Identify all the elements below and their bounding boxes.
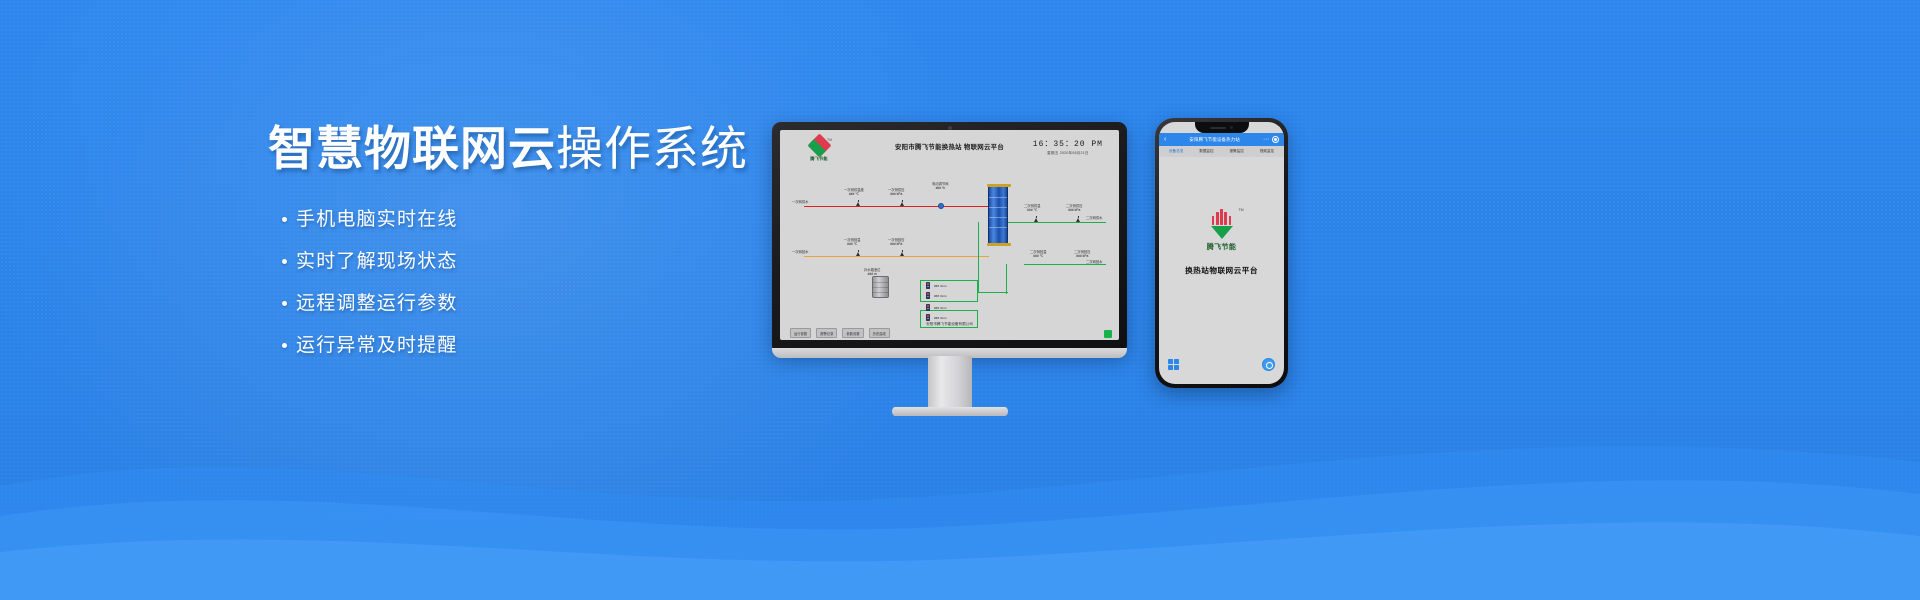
front-camera-icon	[1230, 126, 1233, 129]
page-title-strong: 智慧物联网云	[268, 122, 556, 175]
scada-header: TM 腾飞节能 安阳市腾飞节能换热站 物联网云平台 16：35：20 PM 星期…	[780, 130, 1119, 164]
plate-heat-exchanger	[988, 186, 1008, 244]
tab-alarm-log[interactable]: 报警记录	[816, 328, 837, 338]
label-secondary-return-press: 二次侧回压### kPa	[1074, 250, 1090, 259]
phone-tab-bar[interactable]: 设备总览 数据监控 报警监控 视频监控	[1159, 146, 1284, 157]
valve-icon	[1076, 218, 1081, 222]
date-value: 星期五 2020年08月21日	[1033, 151, 1103, 156]
webcam-icon	[948, 126, 952, 130]
triangle-icon	[1211, 226, 1233, 239]
label-primary-return-temp: 一次侧回温### ℃	[844, 238, 860, 247]
pump-value: ### r/min	[934, 294, 947, 298]
apps-grid-icon[interactable]	[1168, 359, 1179, 370]
tab-run-parameters[interactable]: 运行参数	[790, 328, 811, 338]
speaker-icon	[1210, 127, 1226, 129]
valve-icon	[856, 252, 861, 256]
pipe-branch-riser	[1006, 264, 1007, 294]
brand-label: 腾飞节能	[1202, 242, 1242, 252]
feature-bullet-list: 手机电脑实时在线 实时了解现场状态 远程调整运行参数 运行异常及时提醒	[268, 210, 828, 355]
pipe-branch	[978, 292, 1008, 293]
control-valve-icon	[938, 203, 944, 209]
bullet-dot-icon	[282, 301, 287, 306]
clock-value: 16：35：20 PM	[1033, 138, 1103, 149]
label-secondary-supply-press: 二次侧供压### kPa	[1066, 204, 1082, 213]
desktop-monitor-mockup: TM 腾飞节能 安阳市腾飞节能换热站 物联网云平台 16：35：20 PM 星期…	[772, 122, 1127, 419]
tab-data-monitor[interactable]: 数据监控	[1199, 149, 1213, 154]
brand-logo-icon: TM	[1202, 209, 1242, 239]
pipe-primary-return	[804, 256, 989, 257]
tab-video-monitor[interactable]: 视频监控	[1260, 149, 1274, 154]
scada-diagram: 一次网供水 一次侧供温度### ℃ 一次侧供压### kPa 电动调节阀### …	[780, 164, 1119, 334]
pump-value: ### r/min	[934, 306, 947, 310]
bullet-label: 远程调整运行参数	[296, 294, 458, 313]
phone-screen: ‹ 安阳腾飞节能设备热力站 ⋯ 设备总览 数据监控 报警监控 视频监控 TM 腾…	[1159, 122, 1284, 384]
pump-unit-icon	[926, 292, 930, 299]
tab-alarm-monitor[interactable]: 报警监控	[1229, 149, 1243, 154]
scada-tab-bar[interactable]: 运行参数 报警记录 参数设置 历史曲线	[790, 328, 890, 338]
phone-brand-block: TM 腾飞节能	[1202, 209, 1242, 252]
label-secondary-supply-temp: 二次侧供温### ℃	[1024, 204, 1040, 213]
scada-footer: 安阳市腾飞节能设备有限公司 运行参数 报警记录 参数设置 历史曲线	[780, 320, 1119, 340]
close-circle-icon[interactable]	[1272, 136, 1279, 143]
tab-device-overview[interactable]: 设备总览	[1169, 149, 1183, 154]
phone-nav-bar: ‹ 安阳腾飞节能设备热力站 ⋯	[1159, 133, 1284, 146]
list-item: 手机电脑实时在线	[282, 210, 828, 229]
label-primary-supply-temp: 一次侧供温度### ℃	[844, 188, 864, 197]
phone-nav-title: 安阳腾飞节能设备热力站	[1169, 137, 1260, 143]
phone-content: TM 腾飞节能 换热站物联网云平台	[1159, 157, 1284, 384]
phone-notch	[1195, 122, 1249, 133]
list-item: 远程调整运行参数	[282, 294, 828, 313]
bullet-dot-icon	[282, 343, 287, 348]
more-icon[interactable]: ⋯	[1263, 137, 1269, 143]
monitor-bezel: TM 腾飞节能 安阳市腾飞节能换热站 物联网云平台 16：35：20 PM 星期…	[772, 122, 1127, 354]
bullet-label: 运行异常及时提醒	[296, 336, 458, 355]
pipe-primary-supply	[804, 206, 989, 207]
scada-clock-block: 16：35：20 PM 星期五 2020年08月21日	[1033, 138, 1103, 156]
bullet-dot-icon	[282, 217, 287, 222]
valve-icon	[900, 202, 905, 206]
company-label: 安阳市腾飞节能设备有限公司	[780, 322, 1119, 327]
monitor-stand-neck	[928, 356, 972, 410]
hero-copy: 智慧物联网云操作系统 手机电脑实时在线 实时了解现场状态 远程调整运行参数 运行…	[268, 122, 828, 378]
label-secondary-return-temp: 二次侧回温### ℃	[1030, 250, 1046, 259]
status-indicator-button[interactable]	[1104, 330, 1112, 338]
page-title: 智慧物联网云操作系统	[268, 122, 828, 176]
bullet-dot-icon	[282, 259, 287, 264]
label-primary-supply-press: 一次侧供压### kPa	[888, 188, 904, 197]
smartphone-mockup: ‹ 安阳腾飞节能设备热力站 ⋯ 设备总览 数据监控 报警监控 视频监控 TM 腾…	[1155, 118, 1288, 388]
pipe-secondary-supply	[1008, 222, 1106, 223]
bullet-label: 实时了解现场状态	[296, 252, 458, 271]
valve-icon	[1034, 218, 1039, 222]
label-secondary-supply: 二次网供水	[1086, 216, 1102, 220]
label-primary-supply: 一次网供水	[792, 200, 808, 204]
bars-icon	[1208, 209, 1236, 225]
makeup-water-tank	[872, 276, 889, 298]
pump-value: ### r/min	[934, 284, 947, 288]
monitor-stand-base	[892, 407, 1008, 416]
valve-icon	[900, 252, 905, 256]
bullet-label: 手机电脑实时在线	[296, 210, 458, 229]
page-title-light: 操作系统	[556, 122, 748, 175]
trademark-icon: TM	[1238, 208, 1243, 212]
background-wave-decoration	[0, 390, 1920, 600]
chevron-left-icon[interactable]: ‹	[1164, 136, 1166, 143]
label-primary-return-press: 一次侧回压### kPa	[888, 238, 904, 247]
list-item: 运行异常及时提醒	[282, 336, 828, 355]
phone-subtitle: 换热站物联网云平台	[1185, 265, 1258, 276]
tab-history-curve[interactable]: 历史曲线	[869, 328, 890, 338]
list-item: 实时了解现场状态	[282, 252, 828, 271]
label-control-valve: 电动调节阀### %	[932, 182, 948, 191]
valve-icon	[856, 202, 861, 206]
pipe-riser	[978, 222, 979, 292]
pump-unit-icon	[926, 304, 930, 311]
pump-unit-icon	[926, 282, 930, 289]
label-tank-level: 补水箱液位### m	[864, 268, 880, 277]
tab-settings[interactable]: 参数设置	[842, 328, 863, 338]
monitor-screen: TM 腾飞节能 安阳市腾飞节能换热站 物联网云平台 16：35：20 PM 星期…	[780, 130, 1119, 340]
label-secondary-return: 二次网回水	[1086, 260, 1102, 264]
refresh-icon[interactable]	[1262, 358, 1275, 371]
label-primary-return: 一次网回水	[792, 250, 808, 254]
